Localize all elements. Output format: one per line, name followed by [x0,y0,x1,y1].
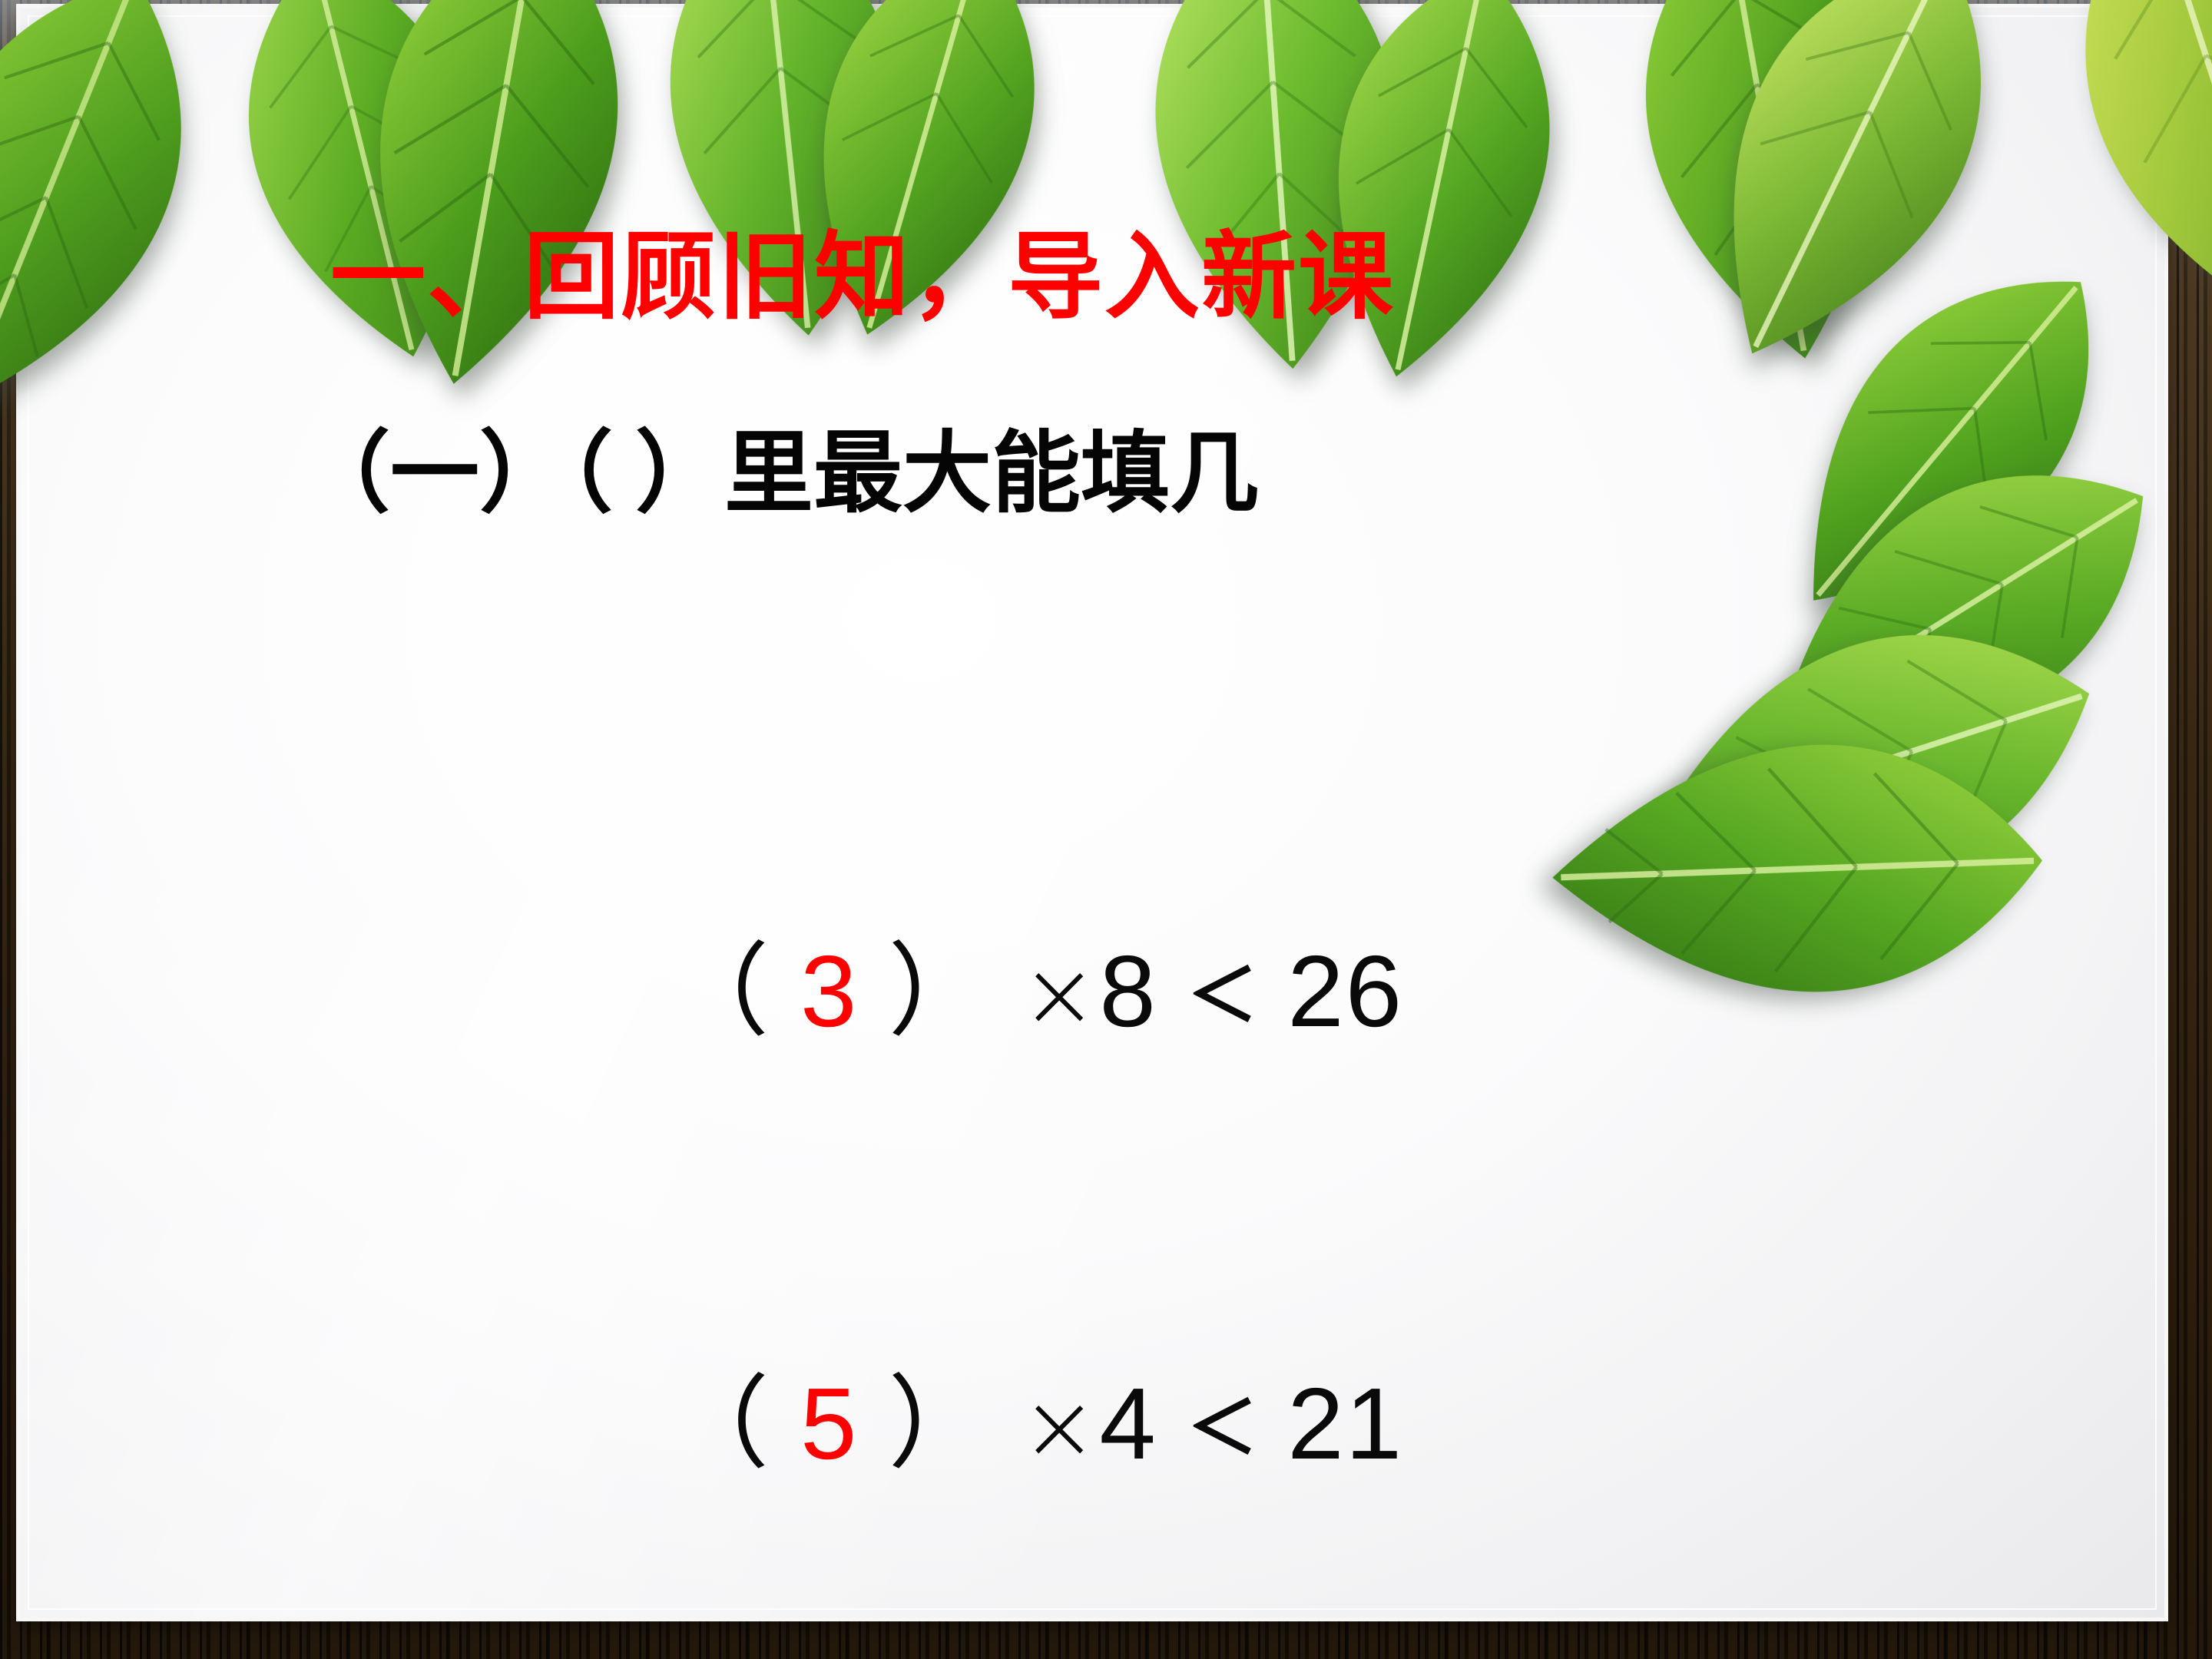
comparator-1: ＜ [1187,955,1258,1037]
slide-content: 一、回顾旧知，导入新课 （一）（ ）里最大能填几 （ 3 ） ×8 ＜ 26 （… [0,0,2212,1659]
times-sign-1: × [1021,942,1100,1048]
answer-2[interactable]: 5 [800,1367,858,1480]
target-2: 21 [1287,1367,1403,1480]
open-paren-2: （ [667,1367,770,1480]
target-1: 26 [1287,935,1403,1048]
times-sign-2: × [1021,1374,1100,1481]
exercise-row-3: 22 ＞ 5× （ 4 ） [0,1640,2212,1659]
section-title: 一、回顾旧知，导入新课 [330,230,1395,326]
subsection-prompt: （一）（ ）里最大能填几 [301,430,1259,519]
factor-1: 8 [1099,935,1157,1048]
exercise-list: （ 3 ） ×8 ＜ 26 （ 5 ） ×4 ＜ 21 22 ＞ 5× （ 4 … [0,776,2212,1659]
slide-canvas: 一、回顾旧知，导入新课 （一）（ ）里最大能填几 （ 3 ） ×8 ＜ 26 （… [0,0,2212,1659]
comparator-2: ＜ [1187,1387,1258,1469]
open-paren-1: （ [667,935,770,1048]
exercise-row-2: （ 5 ） ×4 ＜ 21 [0,1207,2212,1639]
exercise-row-1: （ 3 ） ×8 ＜ 26 [0,776,2212,1207]
answer-1[interactable]: 3 [800,935,858,1048]
factor-2: 4 [1099,1367,1157,1480]
close-paren-2: ） [888,1367,991,1480]
close-paren-1: ） [888,935,991,1048]
